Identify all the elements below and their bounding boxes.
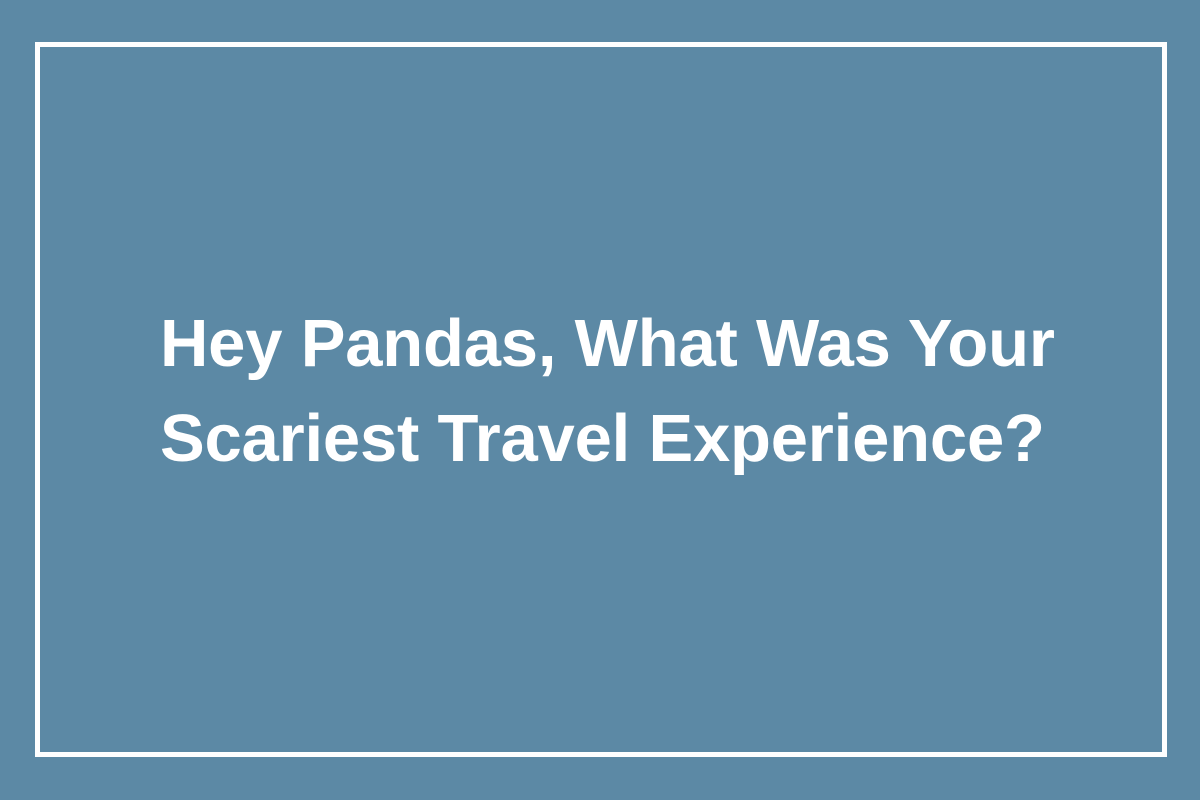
page-title: Hey Pandas, What Was Your Scariest Trave… bbox=[160, 296, 1060, 486]
headline-line-1: Hey Pandas, What Was Your bbox=[160, 296, 1060, 391]
headline-line-2: Scariest Travel Experience? bbox=[160, 391, 1060, 486]
headline-block: Hey Pandas, What Was Your Scariest Trave… bbox=[160, 296, 1060, 486]
poster-canvas: Hey Pandas, What Was Your Scariest Trave… bbox=[0, 0, 1200, 800]
